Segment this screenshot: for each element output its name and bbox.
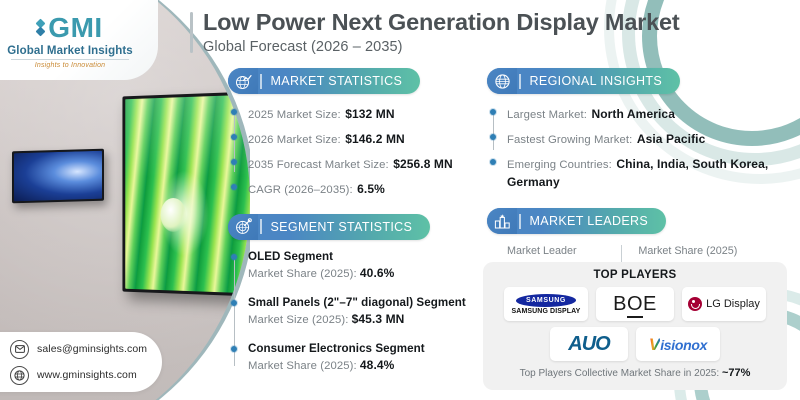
section-title: REGIONAL INSIGHTS (530, 74, 663, 88)
item-label: Market Share (2025): (248, 268, 357, 280)
pill-divider (260, 74, 262, 89)
list-item: OLED Segment Market Share (2025): 40.6% (248, 250, 478, 280)
item-value: 40.6% (360, 266, 395, 280)
item-value: $256.8 MN (393, 157, 453, 171)
list-item: 2035 Forecast Market Size: $256.8 MN (248, 155, 478, 173)
bullet-dot (231, 184, 237, 190)
player-name: Visionox (649, 336, 707, 353)
contact-email-row[interactable]: sales@gminsights.com (10, 340, 162, 359)
contact-website-row[interactable]: www.gminsights.com (10, 366, 162, 385)
visionox-rest: isionox (660, 338, 707, 352)
brand-name: Global Market Insights (7, 45, 133, 57)
player-logo-visionox[interactable]: Visionox (636, 327, 720, 361)
section-header-segment-statistics: SEGMENT STATISTICS (228, 214, 430, 240)
section-title: MARKET LEADERS (530, 214, 649, 228)
target-segment-icon (228, 214, 258, 240)
list-item: Largest Market: North America (507, 105, 787, 123)
top-players-title: TOP PLAYERS (493, 269, 777, 281)
column-header: Market Share (2025) (638, 245, 737, 257)
section-title: SEGMENT STATISTICS (271, 220, 413, 234)
player-logo-lg-display[interactable]: LG Display (682, 287, 766, 321)
player-name: SAMSUNG DISPLAY (512, 308, 581, 315)
item-label: Market Share (2025): (248, 360, 357, 372)
item-label: Market Size (2025): (248, 314, 348, 326)
top-players-row-1: SAMSUNG SAMSUNG DISPLAY BOE LG Display (493, 287, 777, 321)
visionox-v-letter: V (649, 336, 660, 353)
bullet-dot (490, 109, 496, 115)
player-name: BOE (613, 294, 657, 314)
bullet-dot (231, 134, 237, 140)
regional-insights-list: Largest Market: North America Fastest Gr… (487, 105, 787, 192)
pill-divider (519, 214, 521, 229)
header: Low Power Next Generation Display Market… (190, 10, 790, 55)
segment-statistics-list: OLED Segment Market Share (2025): 40.6% … (228, 250, 478, 372)
item-value: 6.5% (357, 182, 385, 196)
pill-divider (260, 219, 262, 234)
podium-icon (487, 208, 517, 234)
market-statistics-list: 2025 Market Size: $132 MN 2026 Market Si… (228, 105, 478, 198)
contact-email: sales@gminsights.com (37, 343, 147, 355)
player-logo-boe[interactable]: BOE (596, 287, 674, 321)
item-heading: OLED Segment (248, 250, 478, 263)
samsung-oval-icon: SAMSUNG (515, 294, 577, 307)
top-players-row-2: AUO Visionox (493, 327, 777, 361)
bullet-dot (231, 300, 237, 306)
item-label: Fastest Growing Market: (507, 134, 632, 146)
page-subtitle: Global Forecast (2026 – 2035) (203, 39, 680, 55)
top-players-panel: TOP PLAYERS SAMSUNG SAMSUNG DISPLAY BOE … (483, 262, 787, 390)
item-label: CAGR (2026–2035): (248, 184, 353, 196)
list-item: CAGR (2026–2035): 6.5% (248, 180, 478, 198)
bullet-dot (231, 159, 237, 165)
item-label: Largest Market: (507, 109, 587, 121)
bullet-dot (231, 109, 237, 115)
brand-logo-text: GMI (48, 14, 102, 42)
page-title: Low Power Next Generation Display Market (203, 10, 680, 35)
brand-divider (11, 59, 129, 60)
player-name: AUO (568, 334, 609, 354)
logo-diamond-icon (37, 20, 44, 35)
item-label: 2025 Market Size: (248, 109, 341, 121)
footer-label: Top Players Collective Market Share in 2… (520, 368, 720, 379)
list-item: Small Panels (2"–7" diagonal) Segment Ma… (248, 296, 478, 326)
contact-card: sales@gminsights.com www.gminsights.com (0, 332, 162, 392)
infographic-canvas: GMI Global Market Insights Insights to I… (0, 0, 800, 400)
footer-value: ~77% (722, 367, 750, 379)
section-header-market-statistics: MARKET STATISTICS (228, 68, 420, 94)
section-header-market-leaders: MARKET LEADERS (487, 208, 666, 234)
item-heading: Consumer Electronics Segment (248, 342, 478, 355)
item-label: 2035 Forecast Market Size: (248, 159, 389, 171)
player-logo-auo[interactable]: AUO (550, 327, 628, 361)
samsung-wordmark: SAMSUNG (526, 297, 566, 304)
left-column: MARKET STATISTICS 2025 Market Size: $132… (228, 68, 478, 379)
right-column: REGIONAL INSIGHTS Largest Market: North … (487, 68, 787, 274)
bullet-dot (231, 254, 237, 260)
item-heading: Small Panels (2"–7" diagonal) Segment (248, 296, 478, 309)
item-value: Asia Pacific (637, 132, 706, 146)
envelope-icon (10, 340, 29, 359)
brand-tagline: Insights to Innovation (35, 62, 106, 69)
player-logo-samsung-display[interactable]: SAMSUNG SAMSUNG DISPLAY (504, 287, 588, 321)
item-value: 48.4% (360, 358, 395, 372)
column-header: Market Leader (507, 245, 605, 257)
list-item: Consumer Electronics Segment Market Shar… (248, 342, 478, 372)
wall-display-small (12, 149, 104, 204)
section-header-regional-insights: REGIONAL INSIGHTS (487, 68, 680, 94)
item-label: Emerging Countries: (507, 159, 612, 171)
brand-logo-card: GMI Global Market Insights Insights to I… (0, 0, 158, 80)
section-title: MARKET STATISTICS (271, 74, 403, 88)
player-name: LG Display (706, 298, 760, 310)
bullet-dot (490, 159, 496, 165)
list-item: 2025 Market Size: $132 MN (248, 105, 478, 123)
item-value: $132 MN (345, 107, 394, 121)
top-players-footer: Top Players Collective Market Share in 2… (493, 367, 777, 379)
globe-icon (10, 366, 29, 385)
globe-icon (487, 68, 517, 94)
item-value: $45.3 MN (352, 312, 405, 326)
item-value: $146.2 MN (345, 132, 405, 146)
pill-divider (519, 74, 521, 89)
bullet-dot (490, 134, 496, 140)
globe-chart-icon (228, 68, 258, 94)
list-item: Fastest Growing Market: Asia Pacific (507, 130, 787, 148)
item-value: North America (591, 107, 675, 121)
item-label: 2026 Market Size: (248, 134, 341, 146)
title-accent-bar (190, 12, 193, 53)
lg-face-icon (688, 297, 702, 311)
list-item: Emerging Countries: China, India, South … (507, 155, 787, 192)
contact-website: www.gminsights.com (37, 369, 137, 381)
bullet-dot (231, 346, 237, 352)
list-item: 2026 Market Size: $146.2 MN (248, 130, 478, 148)
